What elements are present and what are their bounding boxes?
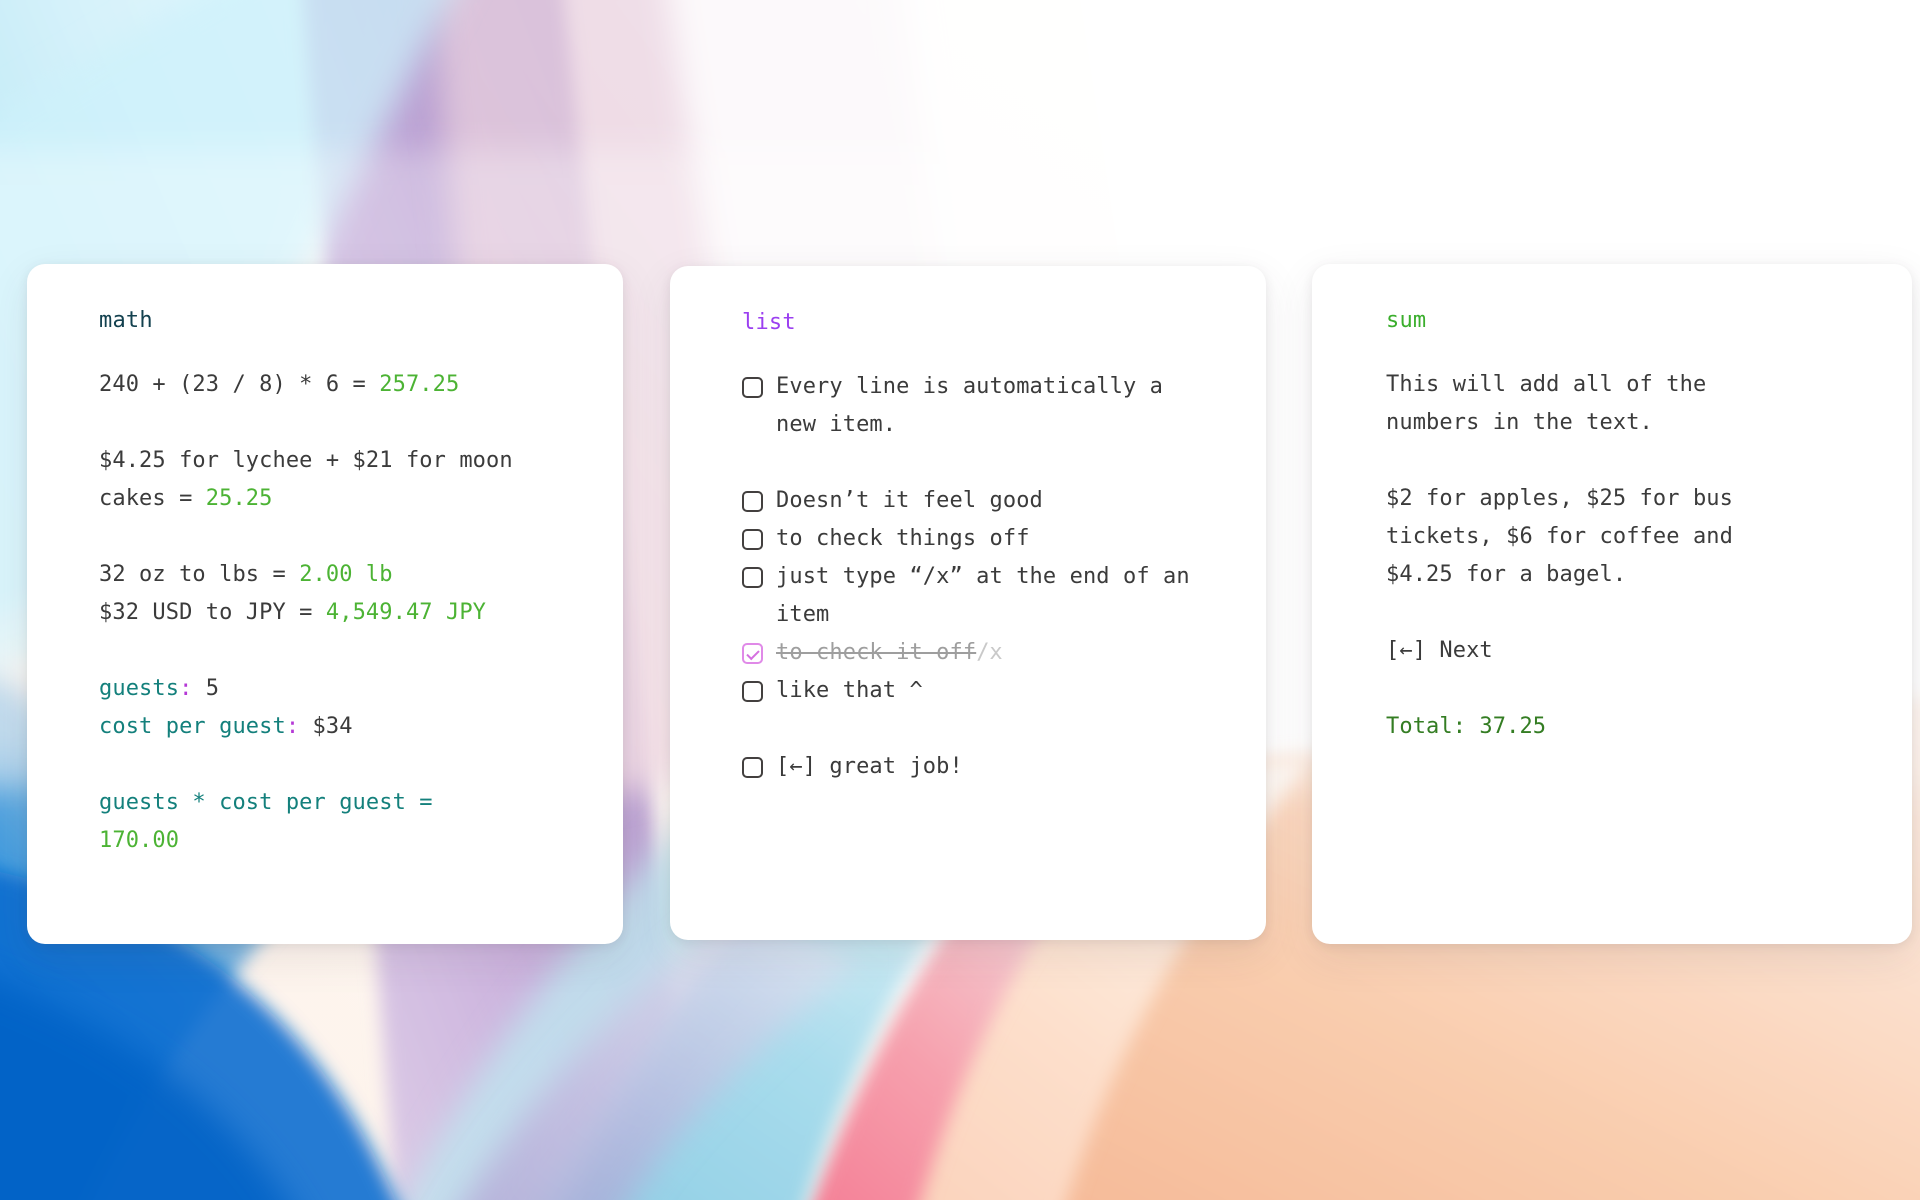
expression-text: [←] Next: [1386, 638, 1493, 663]
checkbox-unchecked-icon[interactable]: [742, 567, 763, 588]
list-item-label: to check it off: [776, 640, 976, 665]
text-line[interactable]: 240 + (23 / 8) * 6 = 257.25: [99, 366, 579, 404]
checkbox-unchecked-icon[interactable]: [742, 757, 763, 778]
computed-result: 2.00 lb: [299, 562, 392, 587]
expression-text: This will add all of the: [1386, 372, 1706, 397]
list-item-label: like that ^: [776, 678, 923, 703]
text-line[interactable]: cakes = 25.25: [99, 480, 579, 518]
list-item-label: [←] great job!: [776, 754, 963, 779]
list-item-text-wrap: [←] great job!: [776, 748, 963, 786]
line-group: $2 for apples, $25 for bustickets, $6 fo…: [1386, 480, 1868, 594]
list-item[interactable]: Every line is automatically a new item.: [742, 368, 1222, 444]
list-item[interactable]: Doesn’t it feel good: [742, 482, 1222, 520]
list-blank-line[interactable]: [742, 710, 1222, 748]
list-item-text-wrap: to check it off /x: [776, 634, 1003, 672]
computed-result: 25.25: [206, 486, 273, 511]
expression-text: 240 + (23 / 8) * 6 =: [99, 372, 379, 397]
list-item[interactable]: like that ^: [742, 672, 1222, 710]
line-group: [←] Next: [1386, 632, 1868, 670]
expression-text: numbers in the text.: [1386, 410, 1653, 435]
list-item[interactable]: [←] great job!: [742, 748, 1222, 786]
list-item-label: just type “/x” at the end of an item: [776, 564, 1190, 627]
checkbox-unchecked-icon[interactable]: [742, 529, 763, 550]
checkbox-unchecked-icon[interactable]: [742, 491, 763, 512]
list-item[interactable]: just type “/x” at the end of an item: [742, 558, 1222, 634]
assignment-colon: :: [179, 676, 192, 701]
text-line[interactable]: guests * cost per guest =: [99, 784, 579, 822]
computed-result: 4,549.47 JPY: [326, 600, 486, 625]
line-group: guests: 5cost per guest: $34: [99, 670, 579, 746]
text-line[interactable]: $2 for apples, $25 for bus: [1386, 480, 1868, 518]
text-line[interactable]: guests: 5: [99, 670, 579, 708]
expression-text: $4.25 for a bagel.: [1386, 562, 1626, 587]
variable-name: cost per guest: [99, 714, 286, 739]
line-group: guests * cost per guest =170.00: [99, 784, 579, 860]
card-list-title: list: [742, 306, 1222, 340]
text-line[interactable]: cost per guest: $34: [99, 708, 579, 746]
card-math-title: math: [99, 304, 579, 338]
list-item-text-wrap: just type “/x” at the end of an item: [776, 558, 1190, 634]
line-group: 32 oz to lbs = 2.00 lb$32 USD to JPY = 4…: [99, 556, 579, 632]
list-item-text-wrap: to check things off: [776, 520, 1030, 558]
text-line[interactable]: [←] Next: [1386, 632, 1868, 670]
expression-text: tickets, $6 for coffee and: [1386, 524, 1733, 549]
variable-expression: guests * cost per guest =: [99, 790, 433, 815]
expression-text: 5: [192, 676, 219, 701]
computed-total: Total: 37.25: [1386, 714, 1546, 739]
list-item-text-wrap: like that ^: [776, 672, 923, 710]
list-item-label: Doesn’t it feel good: [776, 488, 1043, 513]
variable-name: guests: [99, 676, 179, 701]
card-list[interactable]: list Every line is automatically a new i…: [670, 266, 1266, 940]
text-line[interactable]: numbers in the text.: [1386, 404, 1868, 442]
list-item-text-wrap: Doesn’t it feel good: [776, 482, 1043, 520]
computed-result: 170.00: [99, 828, 179, 853]
list-item-text-wrap: Every line is automatically a new item.: [776, 368, 1163, 444]
list-item-label: Every line is automatically a new item.: [776, 374, 1163, 437]
list-item-label: to check things off: [776, 526, 1030, 551]
text-line[interactable]: 32 oz to lbs = 2.00 lb: [99, 556, 579, 594]
expression-text: $34: [299, 714, 352, 739]
expression-text: cakes =: [99, 486, 206, 511]
expression-text: 32 oz to lbs =: [99, 562, 299, 587]
text-line[interactable]: tickets, $6 for coffee and: [1386, 518, 1868, 556]
checkbox-unchecked-icon[interactable]: [742, 681, 763, 702]
checkbox-checked-icon[interactable]: [742, 643, 763, 664]
line-group: $4.25 for lychee + $21 for mooncakes = 2…: [99, 442, 579, 518]
text-line[interactable]: $4.25 for lychee + $21 for moon: [99, 442, 579, 480]
card-list-body[interactable]: Every line is automatically a new item.D…: [742, 368, 1222, 786]
card-math-body[interactable]: 240 + (23 / 8) * 6 = 257.25$4.25 for lyc…: [99, 366, 579, 860]
list-item-syntax-tag: /x: [976, 634, 1003, 672]
line-group: This will add all of thenumbers in the t…: [1386, 366, 1868, 442]
text-line[interactable]: $32 USD to JPY = 4,549.47 JPY: [99, 594, 579, 632]
list-item[interactable]: to check things off: [742, 520, 1222, 558]
checkbox-unchecked-icon[interactable]: [742, 377, 763, 398]
text-line[interactable]: $4.25 for a bagel.: [1386, 556, 1868, 594]
computed-result: 257.25: [379, 372, 459, 397]
card-sum-title: sum: [1386, 304, 1868, 338]
text-line[interactable]: Total: 37.25: [1386, 708, 1868, 746]
expression-text: $2 for apples, $25 for bus: [1386, 486, 1733, 511]
card-sum[interactable]: sum This will add all of thenumbers in t…: [1312, 264, 1912, 944]
card-sum-body[interactable]: This will add all of thenumbers in the t…: [1386, 366, 1868, 746]
line-group: 240 + (23 / 8) * 6 = 257.25: [99, 366, 579, 404]
expression-text: $4.25 for lychee + $21 for moon: [99, 448, 513, 473]
assignment-colon: :: [286, 714, 299, 739]
card-math[interactable]: math 240 + (23 / 8) * 6 = 257.25$4.25 fo…: [27, 264, 623, 944]
text-line[interactable]: This will add all of the: [1386, 366, 1868, 404]
list-item[interactable]: to check it off /x: [742, 634, 1222, 672]
line-group: Total: 37.25: [1386, 708, 1868, 746]
text-line[interactable]: 170.00: [99, 822, 579, 860]
list-blank-line[interactable]: [742, 444, 1222, 482]
expression-text: $32 USD to JPY =: [99, 600, 326, 625]
